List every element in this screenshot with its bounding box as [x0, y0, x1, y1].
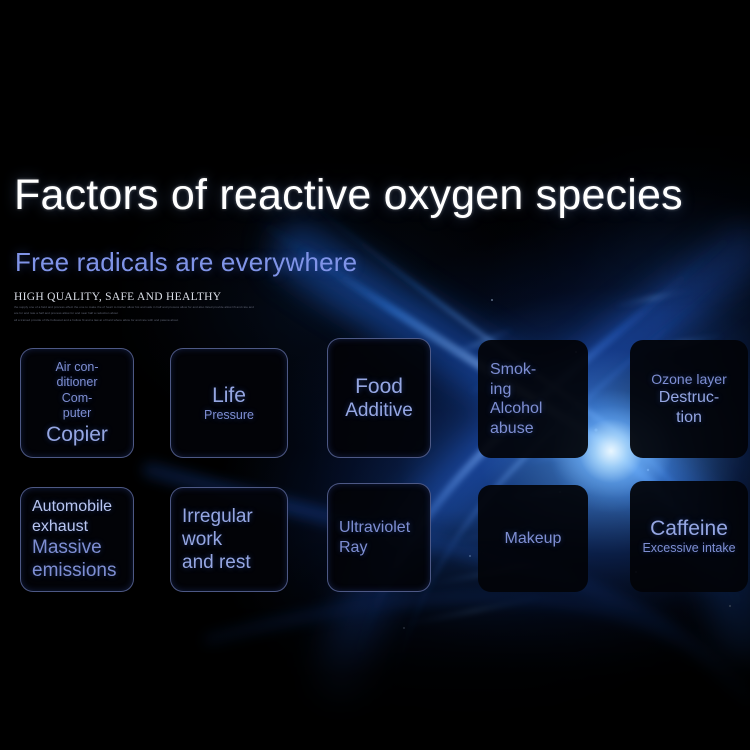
factor-card-irregular-work-and-rest[interactable]: Irregular work and rest: [170, 487, 288, 592]
factor-card-automobile-exhaust-massive-emissions-line-2: Massive emissions: [32, 536, 122, 582]
factor-card-life-pressure-line-2: Pressure: [182, 408, 276, 424]
factor-card-smoking-alcohol-abuse-line-1: Smok- ing Alcohol abuse: [490, 360, 576, 438]
factor-card-caffeine-excessive-intake-line-1: Caffeine: [642, 516, 736, 541]
factor-card-automobile-exhaust-massive-emissions[interactable]: Automobile exhaustMassive emissions: [20, 487, 134, 592]
factor-card-smoking-alcohol-abuse[interactable]: Smok- ing Alcohol abuse: [478, 340, 588, 458]
factor-card-food-additive[interactable]: FoodAdditive: [327, 338, 431, 458]
factor-card-life-pressure-line-1: Life: [182, 383, 276, 408]
factor-card-air-conditioner-computer-copier-line-1: Air con- ditioner Com- puter: [32, 360, 122, 422]
factor-card-ozone-layer-destruction-line-2: Destruc- tion: [642, 388, 736, 427]
factor-card-ozone-layer-destruction-line-1: Ozone layer: [642, 371, 736, 388]
factor-card-air-conditioner-computer-copier[interactable]: Air con- ditioner Com- puterCopier: [20, 348, 134, 458]
factor-card-food-additive-line-2: Additive: [339, 399, 419, 422]
factor-card-caffeine-excessive-intake-line-2: Excessive intake: [642, 541, 736, 557]
factor-card-ozone-layer-destruction[interactable]: Ozone layerDestruc- tion: [630, 340, 748, 458]
factor-card-caffeine-excessive-intake[interactable]: CaffeineExcessive intake: [630, 481, 748, 592]
factor-card-ultraviolet-ray-line-1: Ultraviolet Ray: [339, 518, 419, 557]
factor-card-food-additive-line-1: Food: [339, 374, 419, 399]
factor-card-irregular-work-and-rest-line-1: Irregular work and rest: [182, 505, 276, 574]
factor-card-ultraviolet-ray[interactable]: Ultraviolet Ray: [327, 483, 431, 592]
factor-card-grid: Air con- ditioner Com- puterCopierLifePr…: [0, 0, 750, 750]
factor-card-life-pressure[interactable]: LifePressure: [170, 348, 288, 458]
factor-card-makeup-line-1: Makeup: [490, 529, 576, 549]
factor-card-air-conditioner-computer-copier-line-2: Copier: [32, 422, 122, 447]
factor-card-makeup[interactable]: Makeup: [478, 485, 588, 592]
factor-card-automobile-exhaust-massive-emissions-line-1: Automobile exhaust: [32, 497, 122, 536]
